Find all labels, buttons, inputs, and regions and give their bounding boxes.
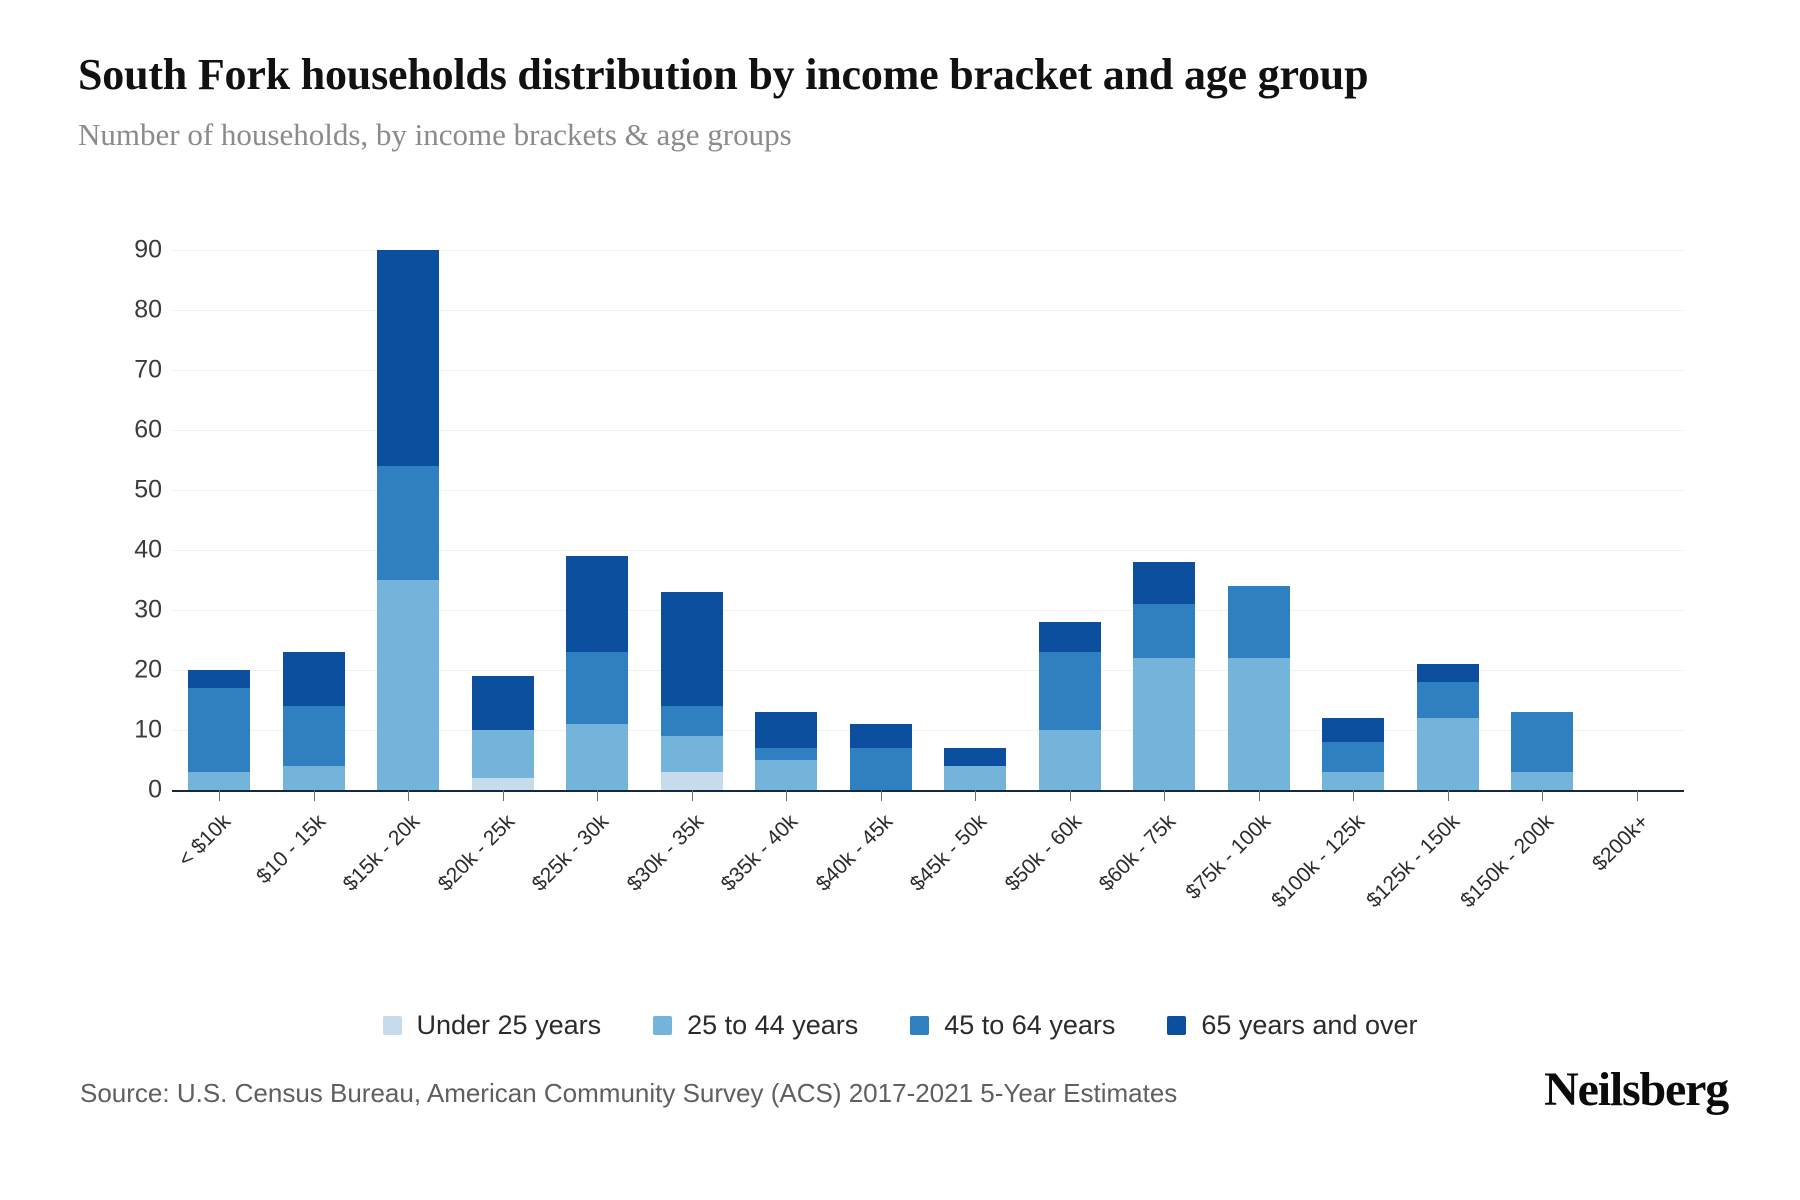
bar-segment[interactable] (1039, 730, 1101, 790)
source-note: Source: U.S. Census Bureau, American Com… (80, 1078, 1177, 1109)
x-axis-tick-label: < $10k (174, 810, 236, 872)
x-label-slot: $200k+ (1590, 802, 1685, 922)
tick-mark (314, 790, 315, 801)
bar-stack[interactable] (850, 724, 912, 790)
x-tick (267, 790, 362, 802)
bar-stack[interactable] (1228, 586, 1290, 790)
x-tick (928, 790, 1023, 802)
tick-mark (408, 790, 409, 801)
tick-mark (597, 790, 598, 801)
bar-segment[interactable] (1133, 562, 1195, 604)
bar-segment[interactable] (1417, 718, 1479, 790)
y-axis-tick-label: 50 (134, 476, 162, 505)
bar-segment[interactable] (377, 580, 439, 790)
y-axis-tick-label: 40 (134, 536, 162, 565)
bar-segment[interactable] (377, 250, 439, 466)
bar-stack[interactable] (755, 712, 817, 790)
y-axis-tick-label: 80 (134, 296, 162, 325)
bar-group[interactable] (1495, 250, 1590, 790)
bar-group[interactable] (550, 250, 645, 790)
x-label-slot: $30k - 35k (645, 802, 740, 922)
bar-segment[interactable] (755, 760, 817, 790)
x-label-slot: $35k - 40k (739, 802, 834, 922)
x-tick (1212, 790, 1307, 802)
x-tick (1401, 790, 1496, 802)
bar-segment[interactable] (1322, 742, 1384, 772)
bar-segment[interactable] (1511, 772, 1573, 790)
bar-segment[interactable] (1322, 772, 1384, 790)
legend-swatch-icon (910, 1016, 929, 1035)
tick-mark (786, 790, 787, 801)
x-tick (1023, 790, 1118, 802)
legend-item[interactable]: 45 to 64 years (910, 1010, 1115, 1041)
bar-group[interactable] (172, 250, 267, 790)
bar-segment[interactable] (188, 688, 250, 772)
bar-group[interactable] (1023, 250, 1118, 790)
bar-segment[interactable] (1133, 604, 1195, 658)
bar-stack[interactable] (944, 748, 1006, 790)
bar-stack[interactable] (1417, 664, 1479, 790)
tick-mark (1353, 790, 1354, 801)
x-tick (361, 790, 456, 802)
tick-mark (503, 790, 504, 801)
y-axis-tick-label: 10 (134, 716, 162, 745)
bar-group[interactable] (456, 250, 551, 790)
tick-mark (1259, 790, 1260, 801)
x-tick (550, 790, 645, 802)
bar-stack[interactable] (1322, 718, 1384, 790)
bar-segment[interactable] (283, 652, 345, 706)
y-axis-tick-label: 0 (148, 776, 162, 805)
bar-segment[interactable] (188, 670, 250, 688)
bar-segment[interactable] (1039, 652, 1101, 730)
bar-segment[interactable] (661, 736, 723, 772)
x-label-slot: $150k - 200k (1495, 802, 1590, 922)
tick-mark (1070, 790, 1071, 801)
x-tick (834, 790, 929, 802)
x-axis-labels: < $10k$10 - 15k$15k - 20k$20k - 25k$25k … (172, 802, 1684, 922)
chart-legend: Under 25 years25 to 44 years45 to 64 yea… (0, 1010, 1800, 1041)
bar-series-container (172, 250, 1684, 790)
page-subtitle: Number of households, by income brackets… (78, 115, 1728, 155)
bar-segment[interactable] (1228, 658, 1290, 790)
x-label-slot: $15k - 20k (361, 802, 456, 922)
legend-label: 45 to 64 years (944, 1010, 1115, 1041)
tick-mark (692, 790, 693, 801)
chart-header: South Fork households distribution by in… (78, 48, 1728, 155)
x-tick (1306, 790, 1401, 802)
bar-group[interactable] (1306, 250, 1401, 790)
legend-label: Under 25 years (417, 1010, 602, 1041)
bar-stack[interactable] (377, 250, 439, 790)
bar-segment[interactable] (850, 724, 912, 748)
x-tick (1117, 790, 1212, 802)
legend-swatch-icon (1167, 1016, 1186, 1035)
bar-stack[interactable] (188, 670, 250, 790)
legend-label: 65 years and over (1201, 1010, 1417, 1041)
bar-segment[interactable] (944, 766, 1006, 790)
bar-group[interactable] (645, 250, 740, 790)
tick-mark (1448, 790, 1449, 801)
x-label-slot: $10 - 15k (267, 802, 362, 922)
bar-segment[interactable] (1039, 622, 1101, 652)
x-tick (456, 790, 551, 802)
x-label-slot: $45k - 50k (928, 802, 1023, 922)
bar-group[interactable] (1212, 250, 1307, 790)
bar-stack[interactable] (1133, 562, 1195, 790)
x-tick (172, 790, 267, 802)
bar-segment[interactable] (661, 772, 723, 790)
bar-segment[interactable] (944, 748, 1006, 766)
bar-segment[interactable] (188, 772, 250, 790)
y-axis-tick-label: 60 (134, 416, 162, 445)
bar-group[interactable] (267, 250, 362, 790)
bar-segment[interactable] (472, 730, 534, 778)
bar-segment[interactable] (377, 466, 439, 580)
legend-item[interactable]: Under 25 years (383, 1010, 602, 1041)
legend-label: 25 to 44 years (687, 1010, 858, 1041)
bar-group[interactable] (834, 250, 929, 790)
x-tick (739, 790, 834, 802)
legend-item[interactable]: 65 years and over (1167, 1010, 1417, 1041)
bar-segment[interactable] (661, 592, 723, 706)
legend-swatch-icon (653, 1016, 672, 1035)
bar-group[interactable] (1401, 250, 1496, 790)
y-axis: 0102030405060708090 (100, 250, 162, 790)
bar-stack[interactable] (1039, 622, 1101, 790)
bar-segment[interactable] (566, 724, 628, 790)
bar-group[interactable] (361, 250, 456, 790)
bar-group[interactable] (1117, 250, 1212, 790)
y-axis-tick-label: 90 (134, 236, 162, 265)
bar-segment[interactable] (1417, 682, 1479, 718)
x-tick (1495, 790, 1590, 802)
tick-mark (1637, 790, 1638, 801)
bar-segment[interactable] (755, 712, 817, 748)
bar-segment[interactable] (472, 778, 534, 790)
bar-stack[interactable] (661, 592, 723, 790)
bar-stack[interactable] (472, 676, 534, 790)
plot-area: 0102030405060708090 < $10k$10 - 15k$15k … (0, 250, 1800, 910)
bar-group[interactable] (928, 250, 1023, 790)
bar-segment[interactable] (1322, 718, 1384, 742)
x-label-slot: $50k - 60k (1023, 802, 1118, 922)
page-title: South Fork households distribution by in… (78, 48, 1728, 102)
bar-segment[interactable] (566, 556, 628, 652)
bar-stack[interactable] (283, 652, 345, 790)
bar-group[interactable] (739, 250, 834, 790)
bar-stack[interactable] (1511, 712, 1573, 790)
tick-mark (1164, 790, 1165, 801)
chart-page: South Fork households distribution by in… (0, 0, 1800, 1200)
bar-group[interactable] (1590, 250, 1685, 790)
x-tick (645, 790, 740, 802)
tick-mark (881, 790, 882, 801)
y-axis-tick-label: 30 (134, 596, 162, 625)
bar-segment[interactable] (283, 766, 345, 790)
x-label-slot: $25k - 30k (550, 802, 645, 922)
x-label-slot: $20k - 25k (456, 802, 551, 922)
x-label-slot: < $10k (172, 802, 267, 922)
x-tick (1590, 790, 1685, 802)
tick-mark (975, 790, 976, 801)
x-label-slot: $40k - 45k (834, 802, 929, 922)
x-axis-tick-label: $200k+ (1588, 810, 1654, 876)
bar-segment[interactable] (1228, 586, 1290, 658)
bar-segment[interactable] (1511, 712, 1573, 772)
bar-stack[interactable] (566, 556, 628, 790)
legend-item[interactable]: 25 to 44 years (653, 1010, 858, 1041)
bar-segment[interactable] (1417, 664, 1479, 682)
y-axis-tick-label: 70 (134, 356, 162, 385)
bar-segment[interactable] (1133, 658, 1195, 790)
x-axis-ticks (172, 790, 1684, 802)
tick-mark (219, 790, 220, 801)
tick-mark (1542, 790, 1543, 801)
bar-segment[interactable] (566, 652, 628, 724)
bar-segment[interactable] (755, 748, 817, 760)
brand-logo: Neilsberg (1544, 1062, 1728, 1117)
bar-segment[interactable] (661, 706, 723, 736)
bar-segment[interactable] (472, 676, 534, 730)
bar-segment[interactable] (283, 706, 345, 766)
bar-segment[interactable] (850, 748, 912, 790)
legend-swatch-icon (383, 1016, 402, 1035)
y-axis-tick-label: 20 (134, 656, 162, 685)
